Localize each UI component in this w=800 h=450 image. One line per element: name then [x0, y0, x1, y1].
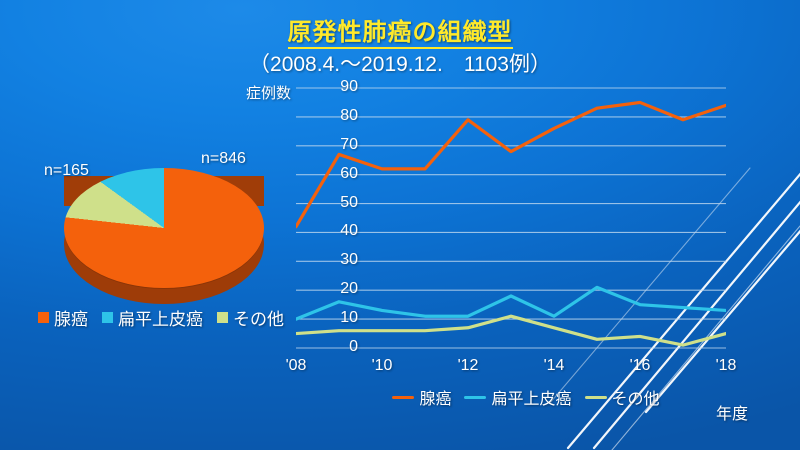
y-axis-tick-label: 40 — [318, 222, 358, 240]
pie-chart-block: n=846 n=165 腺癌 扁平上皮癌 その他 — [26, 150, 296, 330]
pie-label-adenocarcinoma: n=846 — [201, 150, 246, 168]
x-axis-tick-label: '08 — [286, 357, 307, 375]
line-legend-item-adenocarcinoma: 腺癌 — [392, 385, 451, 409]
pie-label-squamous: n=165 — [44, 162, 89, 180]
slide-canvas: 原発性肺癌の組織型 （2008.4.〜2019.12. 1103例） n=846… — [0, 0, 800, 450]
line-legend-item-other: その他 — [585, 385, 660, 409]
pie-legend-label-other: その他 — [233, 305, 284, 330]
pie-legend-label-adenocarcinoma: 腺癌 — [54, 305, 88, 330]
page-title: 原発性肺癌の組織型 — [0, 12, 800, 47]
line-legend-label-squamous: 扁平上皮癌 — [491, 385, 571, 409]
pie-legend-item-squamous: 扁平上皮癌 — [102, 305, 203, 330]
y-axis-tick-label: 50 — [318, 194, 358, 212]
line-legend-item-squamous: 扁平上皮癌 — [464, 385, 571, 409]
line-legend-swatch-squamous — [464, 396, 486, 399]
y-axis-tick-label: 0 — [318, 338, 358, 356]
y-axis-title: 症例数 — [246, 82, 291, 103]
x-axis-title: 年度 — [716, 400, 748, 424]
pie-chart — [64, 168, 264, 288]
x-axis-tick-label: '16 — [630, 357, 651, 375]
line-legend-swatch-adenocarcinoma — [392, 396, 414, 399]
y-axis-tick-label: 10 — [318, 309, 358, 327]
pie-legend-swatch-squamous — [102, 312, 113, 323]
y-axis-tick-label: 60 — [318, 165, 358, 183]
x-axis-tick-label: '14 — [544, 357, 565, 375]
line-legend-label-other: その他 — [612, 385, 660, 409]
x-axis-tick-label: '12 — [458, 357, 479, 375]
line-chart-block: 症例数 0102030405060708090 '08'10'12'14'16'… — [296, 80, 766, 420]
pie-legend-item-other: その他 — [217, 305, 284, 330]
pie-legend-swatch-other — [217, 312, 228, 323]
pie-legend-label-squamous: 扁平上皮癌 — [118, 305, 203, 330]
y-axis-tick-label: 80 — [318, 107, 358, 125]
y-axis-tick-label: 20 — [318, 280, 358, 298]
pie-legend: 腺癌 扁平上皮癌 その他 — [26, 305, 296, 330]
line-legend-swatch-other — [585, 396, 607, 399]
series-line-1 — [296, 287, 726, 319]
y-axis-tick-label: 30 — [318, 251, 358, 269]
page-title-text: 原発性肺癌の組織型 — [288, 19, 513, 49]
pie-legend-item-adenocarcinoma: 腺癌 — [38, 305, 88, 330]
line-legend-label-adenocarcinoma: 腺癌 — [419, 385, 451, 409]
y-axis-tick-label: 90 — [318, 78, 358, 96]
pie-3d-top — [64, 168, 264, 288]
series-line-2 — [296, 316, 726, 345]
x-axis-tick-label: '18 — [716, 357, 737, 375]
y-axis-tick-label: 70 — [318, 136, 358, 154]
line-chart-plot — [296, 80, 726, 355]
pie-legend-swatch-adenocarcinoma — [38, 312, 49, 323]
line-chart-legend: 腺癌 扁平上皮癌 その他 — [326, 385, 726, 409]
series-line-0 — [296, 102, 726, 226]
page-subtitle: （2008.4.〜2019.12. 1103例） — [0, 48, 800, 78]
x-axis-tick-label: '10 — [372, 357, 393, 375]
